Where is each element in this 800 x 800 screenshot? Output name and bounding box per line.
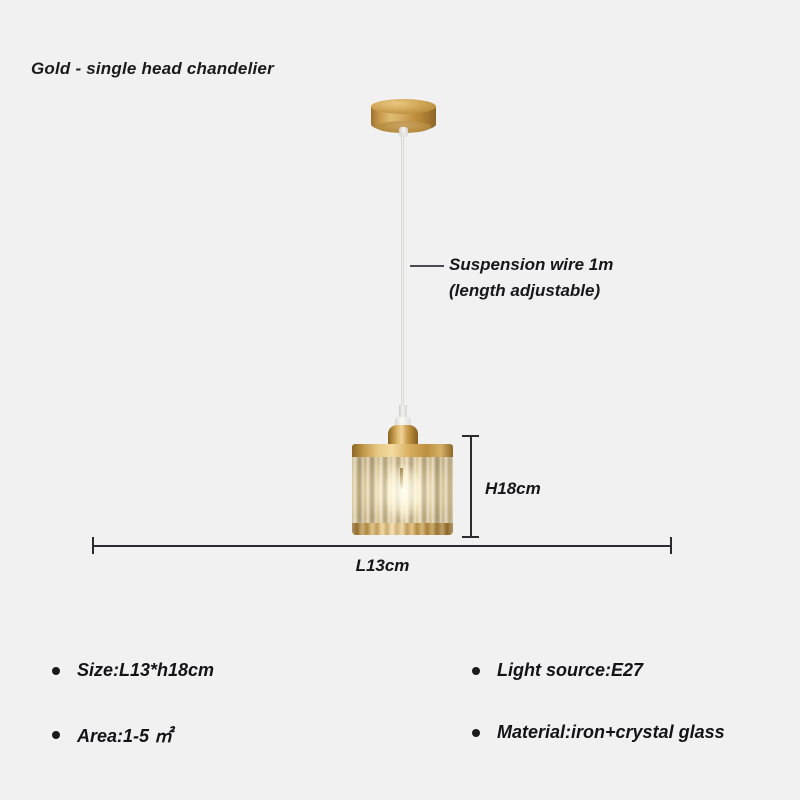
length-dimension-label: L13cm (0, 556, 765, 576)
bullet-icon (472, 729, 480, 737)
spec-item-light-source: Light source:E27 (472, 660, 643, 681)
bulb-glow (385, 464, 421, 520)
spec-label-material: Material:iron+crystal glass (497, 722, 725, 743)
product-diagram: Gold - single head chandelier Suspension… (0, 0, 800, 800)
wire-leader-line (410, 265, 444, 267)
length-dimension-cap-right (670, 537, 672, 554)
shade-top-rim (352, 444, 453, 457)
crystal-lamp-shade (352, 444, 453, 535)
spec-label-size: Size:L13*h18cm (77, 660, 214, 681)
spec-item-size: Size:L13*h18cm (52, 660, 214, 681)
wire-label-line-1: Suspension wire 1m (449, 252, 613, 278)
page-title: Gold - single head chandelier (31, 59, 274, 79)
spec-item-area: Area:1-5 ㎡ (52, 722, 172, 748)
canopy-top-disc (371, 99, 436, 114)
bulb-filament (400, 468, 403, 490)
bullet-icon (472, 667, 480, 675)
wire-label-line-2: (length adjustable) (449, 278, 613, 304)
length-dimension-cap-left (92, 537, 94, 554)
bullet-icon (52, 667, 60, 675)
spec-item-material: Material:iron+crystal glass (472, 722, 725, 743)
height-dimension-cap-top (462, 435, 479, 437)
spec-label-light-source: Light source:E27 (497, 660, 643, 681)
suspension-wire-label: Suspension wire 1m (length adjustable) (449, 252, 613, 304)
height-dimension-label: H18cm (485, 479, 541, 499)
length-dimension-line (92, 545, 672, 547)
height-dimension-cap-bottom (462, 536, 479, 538)
height-dimension-line (470, 435, 472, 538)
bullet-icon (52, 731, 60, 739)
suspension-wire (401, 133, 404, 415)
shade-bottom-rim (352, 523, 453, 535)
ceiling-canopy (371, 99, 436, 136)
spec-label-area: Area:1-5 ㎡ (77, 722, 172, 748)
